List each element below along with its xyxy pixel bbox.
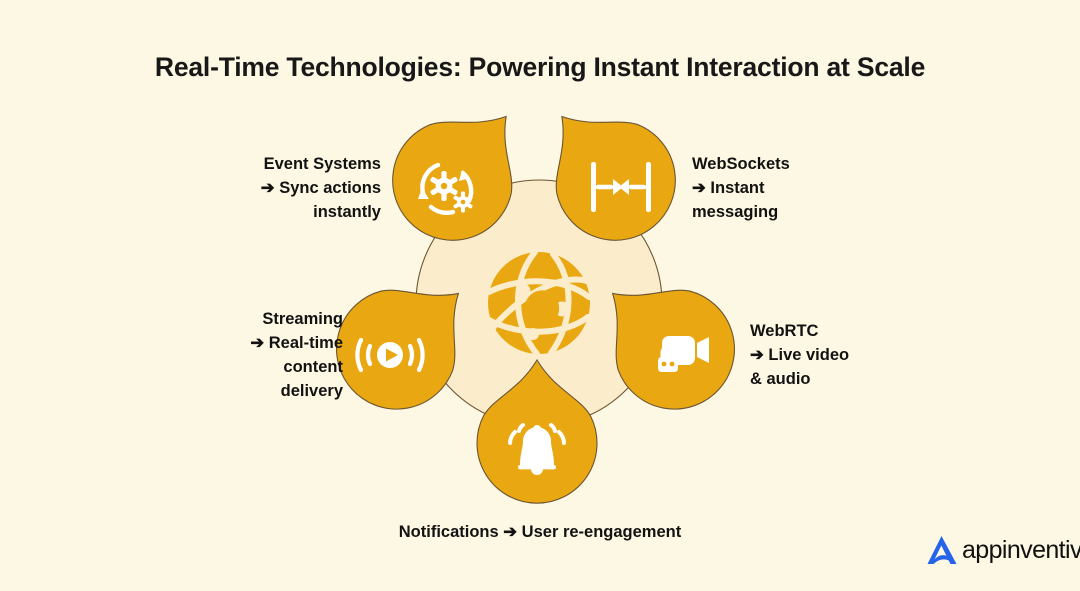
label-webrtc: WebRTC ➔ Live video & audio [750,320,980,392]
radial-diagram [0,0,1080,591]
logo-wordmark: appinventiv [962,536,1080,565]
label-websockets: WebSockets ➔ Instant messaging [692,153,922,225]
globe-network-icon [488,252,590,354]
label-notifications: Notifications ➔ User re-engagement [0,521,1080,545]
label-streaming: Streaming ➔ Real-time content delivery [133,308,343,404]
appinventiv-logo: appinventiv [925,530,1065,570]
infographic-canvas: Real-Time Technologies: Powering Instant… [0,0,1080,591]
label-event-systems: Event Systems ➔ Sync actions instantly [151,153,381,225]
diagram-wrapper [0,0,1080,591]
a-chevron-icon [925,534,959,566]
